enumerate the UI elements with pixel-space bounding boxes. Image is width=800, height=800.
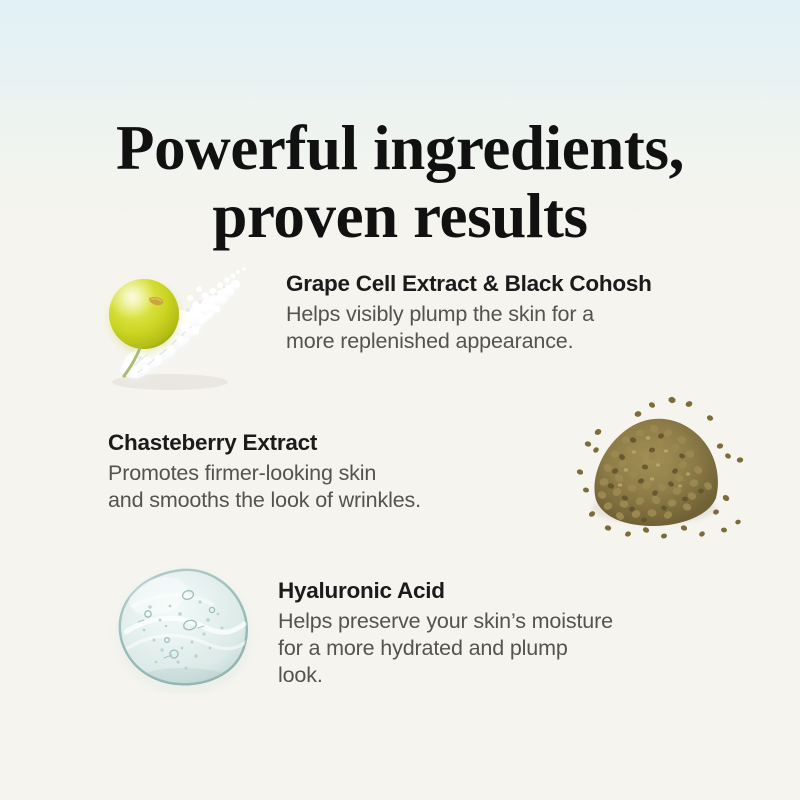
ingredient-description-line-1: Helps visibly plump the skin for a [286,301,732,328]
ingredient-description-line-1: Helps preserve your skin’s moisture [278,608,744,635]
ingredient-title: Chasteberry Extract [108,430,568,457]
ingredient-row-hyaluronic-acid: Hyaluronic Acid Helps preserve your skin… [104,562,744,694]
ingredient-description-line-3: look. [278,662,744,689]
chasteberry-seeds-icon [568,388,758,553]
ingredient-description-line-2: for a more hydrated and plump [278,635,744,662]
ingredients-poster: Powerful ingredients, proven results [0,0,800,800]
page-title: Powerful ingredients, proven results [0,114,800,250]
ingredient-title: Hyaluronic Acid [278,578,744,605]
ingredient-text-hyaluronic-acid: Hyaluronic Acid Helps preserve your skin… [264,562,744,689]
page-title-line-1: Powerful ingredients, [0,114,800,182]
hyaluronic-gel-drop-icon [104,562,264,694]
ingredient-description-line-2: and smooths the look of wrinkles. [108,487,568,514]
ingredient-title: Grape Cell Extract & Black Cohosh [286,271,732,298]
ingredient-description-line-1: Promotes firmer-looking skin [108,460,568,487]
ingredient-text-chasteberry-extract: Chasteberry Extract Promotes firmer-look… [108,388,568,514]
ingredient-text-grape-cell-extract: Grape Cell Extract & Black Cohosh Helps … [272,258,732,355]
page-title-line-2: proven results [0,182,800,250]
ingredient-description-line-2: more replenished appearance. [286,328,732,355]
ingredient-row-grape-cell-extract: Grape Cell Extract & Black Cohosh Helps … [92,258,732,403]
ingredient-row-chasteberry-extract: Chasteberry Extract Promotes firmer-look… [108,388,758,553]
grape-and-black-cohosh-icon [92,258,272,403]
